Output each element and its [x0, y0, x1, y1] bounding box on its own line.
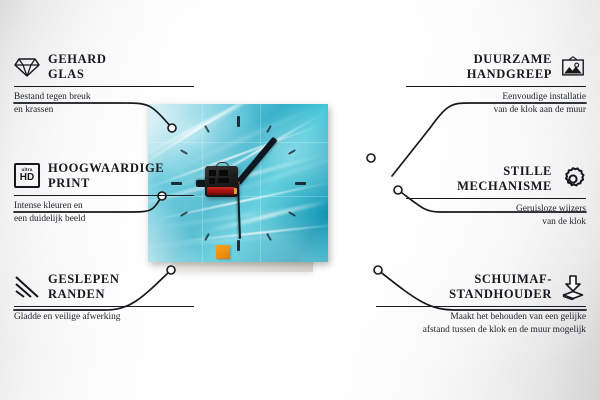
clock-hour-marker — [288, 149, 296, 155]
foam-spacer-piece — [216, 245, 230, 259]
glass-seam — [260, 104, 261, 262]
callout-description: Eenvoudige installatievan de klok aan de… — [406, 91, 586, 116]
callout-header: SCHUIMAF-STANDHOUDER — [376, 272, 586, 302]
mechanism-hook-icon — [216, 162, 229, 169]
callout-header: DUURZAMEHANDGREEP — [406, 52, 586, 82]
wire-node-stille-mechanisme — [394, 186, 402, 194]
beveled-edges-icon — [14, 274, 40, 300]
callout-divider — [376, 306, 586, 308]
foam-spacer-icon — [560, 274, 586, 300]
picture-frame-icon — [560, 54, 586, 80]
callout-header: STILLEMECHANISME — [406, 164, 586, 194]
callout-header: ultra HD HOOGWAARDIGEPRINT — [14, 161, 194, 191]
battery-terminal — [234, 188, 237, 194]
ultra-hd-icon: ultra HD — [14, 163, 40, 189]
callout-description: Maakt het behouden van een gelijkeafstan… — [376, 311, 586, 336]
gear-icon — [560, 166, 586, 192]
callout-divider — [14, 86, 194, 88]
callout-title: SCHUIMAF-STANDHOUDER — [449, 272, 552, 302]
callout-description: Bestand tegen breuken krassen — [14, 91, 194, 116]
callout-description: Geruisloze wijzersvan de klok — [406, 203, 586, 228]
diamond-icon — [14, 54, 40, 80]
callout-description: Intense kleuren eneen duidelijk beeld — [14, 200, 194, 225]
callout-title: GESLEPENRANDEN — [48, 272, 120, 302]
wire-node-duurzame-handgreep — [367, 154, 375, 162]
callout-gehard-glas[interactable]: GEHARDGLAS Bestand tegen breuken krassen — [14, 52, 194, 116]
callout-description: Gladde en veilige afwerking — [14, 311, 194, 323]
callout-header: GESLEPENRANDEN — [14, 272, 194, 302]
infographic-canvas: GEHARDGLAS Bestand tegen breuken krassen… — [0, 0, 600, 400]
clock-hour-marker — [237, 240, 240, 251]
callout-divider — [406, 198, 586, 200]
callout-header: GEHARDGLAS — [14, 52, 194, 82]
callout-schuimafstandhouder[interactable]: SCHUIMAF-STANDHOUDER Maakt het behouden … — [376, 272, 586, 336]
callout-hoogwaardige-print[interactable]: ultra HD HOOGWAARDIGEPRINT Intense kleur… — [14, 161, 194, 225]
callout-title: STILLEMECHANISME — [457, 164, 552, 194]
callout-duurzame-handgreep[interactable]: DUURZAMEHANDGREEP Eenvoudige installatie… — [406, 52, 586, 116]
clock-hour-marker — [295, 182, 306, 185]
battery — [207, 187, 235, 195]
callout-title: GEHARDGLAS — [48, 52, 106, 82]
mechanism-slot — [219, 170, 228, 176]
callout-title: DUURZAMEHANDGREEP — [467, 52, 552, 82]
clock-hour-marker — [180, 149, 188, 155]
callout-divider — [14, 306, 194, 308]
clock-mechanism — [205, 166, 238, 197]
callout-divider — [14, 195, 194, 197]
callout-geslepen-randen[interactable]: GESLEPENRANDEN Gladde en veilige afwerki… — [14, 272, 194, 324]
glass-seam — [148, 142, 328, 143]
mechanism-slot — [218, 178, 229, 183]
callout-title: HOOGWAARDIGEPRINT — [48, 161, 164, 191]
mechanism-slot — [209, 178, 215, 184]
callout-stille-mechanisme[interactable]: STILLEMECHANISME Geruisloze wijzersvan d… — [406, 164, 586, 228]
mechanism-slot — [209, 170, 216, 176]
clock-hour-marker — [237, 116, 240, 127]
clock-hour-marker — [288, 211, 296, 217]
callout-divider — [406, 86, 586, 88]
